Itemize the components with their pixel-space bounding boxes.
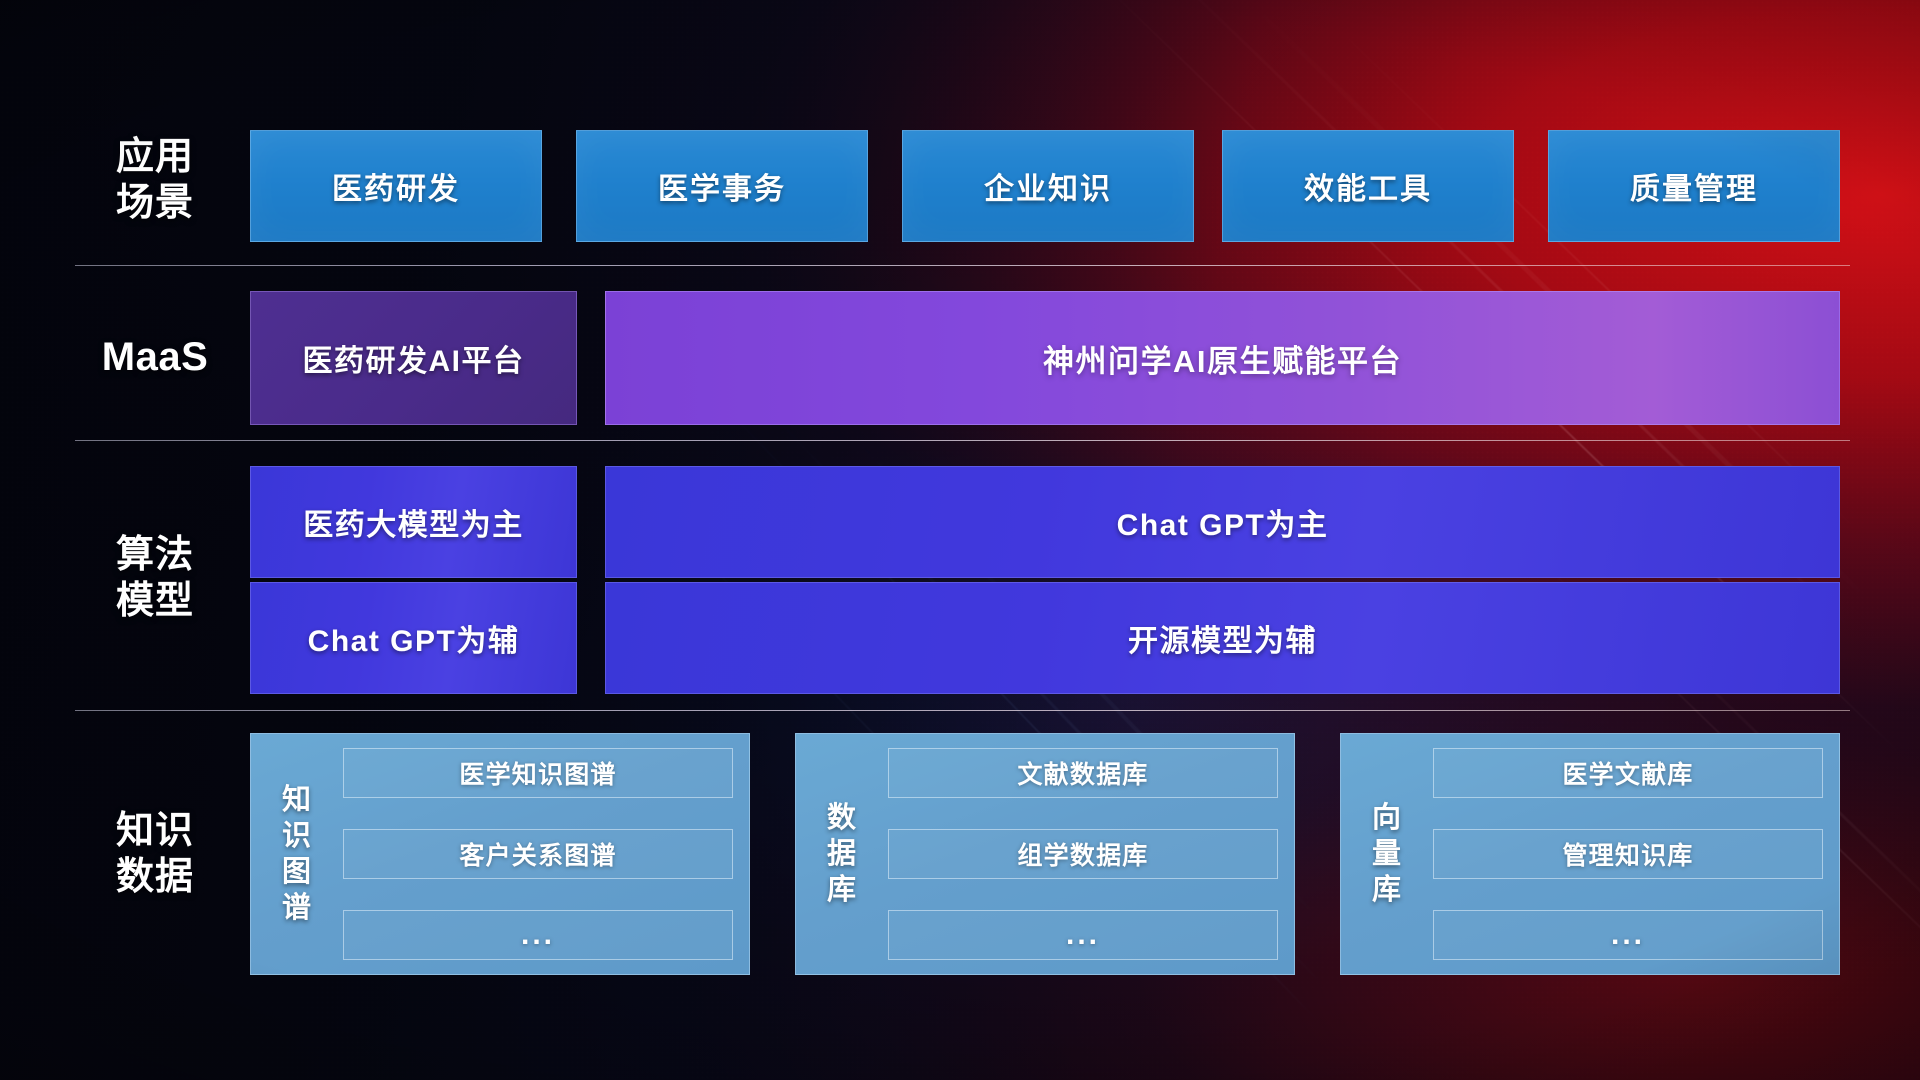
- knowledge-item-label: 管理知识库: [1562, 836, 1693, 872]
- knowledge-card-1[interactable]: 数 据 库 文献数据库 组学数据库 ...: [795, 733, 1295, 975]
- knowledge-item-label: 文献数据库: [1017, 755, 1148, 791]
- knowledge-item-label: 医学知识图谱: [459, 755, 616, 791]
- knowledge-item-label: 组学数据库: [1017, 836, 1148, 872]
- knowledge-item[interactable]: 文献数据库: [888, 748, 1278, 798]
- algorithm-box-label: Chat GPT为辅: [308, 616, 520, 660]
- maas-right-box[interactable]: 神州问学AI原生赋能平台: [605, 291, 1840, 425]
- maas-right-label: 神州问学AI原生赋能平台: [1043, 336, 1402, 381]
- knowledge-item[interactable]: 医学知识图谱: [343, 748, 733, 798]
- maas-left-label: 医药研发AI平台: [303, 336, 525, 380]
- knowledge-card-title: 知 识 图 谱: [265, 748, 329, 960]
- row-label-application: 应用 场景: [90, 134, 220, 226]
- knowledge-item[interactable]: 医学文献库: [1433, 748, 1823, 798]
- knowledge-card-title: 数 据 库: [810, 748, 874, 960]
- knowledge-item-more[interactable]: ...: [1433, 910, 1823, 960]
- algorithm-box-label: Chat GPT为主: [1117, 500, 1329, 544]
- slide-canvas: 应用 场景 医药研发 医学事务 企业知识 效能工具 质量管理 MaaS 医药研发…: [0, 0, 1920, 1080]
- knowledge-item-label: 医学文献库: [1562, 755, 1693, 791]
- divider-2: [75, 440, 1850, 441]
- maas-left-box[interactable]: 医药研发AI平台: [250, 291, 577, 425]
- row-label-maas: MaaS: [90, 334, 220, 380]
- algorithm-left-box-0[interactable]: 医药大模型为主: [250, 466, 577, 578]
- knowledge-item[interactable]: 客户关系图谱: [343, 829, 733, 879]
- knowledge-item[interactable]: 组学数据库: [888, 829, 1278, 879]
- algorithm-left-box-1[interactable]: Chat GPT为辅: [250, 582, 577, 694]
- app-box-1[interactable]: 医学事务: [576, 130, 868, 242]
- knowledge-item-more[interactable]: ...: [343, 910, 733, 960]
- algorithm-right-box-0[interactable]: Chat GPT为主: [605, 466, 1840, 578]
- app-box-4[interactable]: 质量管理: [1548, 130, 1840, 242]
- app-box-label: 质量管理: [1630, 164, 1758, 208]
- app-box-label: 企业知识: [984, 164, 1112, 208]
- divider-1: [75, 265, 1850, 266]
- app-box-label: 医学事务: [658, 164, 786, 208]
- app-box-2[interactable]: 企业知识: [902, 130, 1194, 242]
- app-box-label: 效能工具: [1304, 164, 1432, 208]
- algorithm-right-box-1[interactable]: 开源模型为辅: [605, 582, 1840, 694]
- knowledge-card-title: 向 量 库: [1355, 748, 1419, 960]
- knowledge-item-more[interactable]: ...: [888, 910, 1278, 960]
- knowledge-card-title-text: 数 据 库: [827, 800, 857, 908]
- knowledge-card-2[interactable]: 向 量 库 医学文献库 管理知识库 ...: [1340, 733, 1840, 975]
- app-box-3[interactable]: 效能工具: [1222, 130, 1514, 242]
- algorithm-box-label: 医药大模型为主: [303, 500, 524, 544]
- knowledge-item-label: ...: [1066, 918, 1100, 952]
- row-label-algorithm: 算法 模型: [90, 532, 220, 624]
- knowledge-card-items: 医学知识图谱 客户关系图谱 ...: [343, 748, 733, 960]
- knowledge-item[interactable]: 管理知识库: [1433, 829, 1823, 879]
- knowledge-card-items: 医学文献库 管理知识库 ...: [1433, 748, 1823, 960]
- knowledge-card-title-text: 向 量 库: [1372, 800, 1402, 908]
- knowledge-item-label: ...: [1611, 918, 1645, 952]
- knowledge-item-label: ...: [521, 918, 555, 952]
- divider-3: [75, 710, 1850, 711]
- knowledge-card-items: 文献数据库 组学数据库 ...: [888, 748, 1278, 960]
- row-label-knowledge: 知识 数据: [90, 808, 220, 900]
- algorithm-box-label: 开源模型为辅: [1128, 616, 1317, 660]
- app-box-0[interactable]: 医药研发: [250, 130, 542, 242]
- knowledge-item-label: 客户关系图谱: [459, 836, 616, 872]
- knowledge-card-0[interactable]: 知 识 图 谱 医学知识图谱 客户关系图谱 ...: [250, 733, 750, 975]
- knowledge-card-title-text: 知 识 图 谱: [282, 782, 312, 926]
- app-box-label: 医药研发: [332, 164, 460, 208]
